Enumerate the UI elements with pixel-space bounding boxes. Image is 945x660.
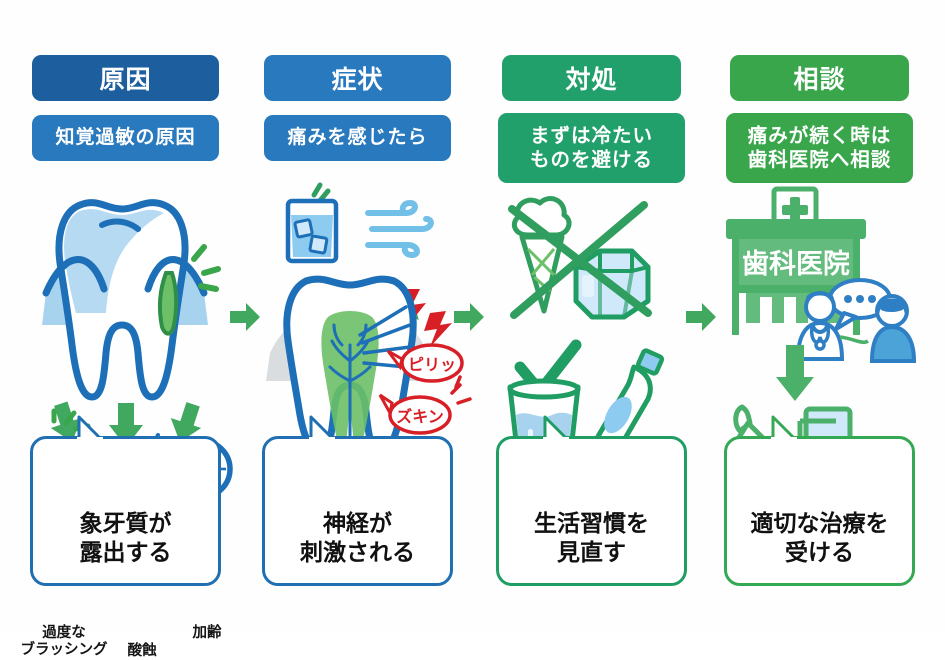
callout-tail: [75, 417, 105, 441]
column-subtitle-symptom: 痛みを感じたら: [264, 115, 451, 161]
column-title-consult: 相談: [730, 55, 909, 101]
caption-excessive-brushing: 過度な ブラッシング: [16, 625, 112, 659]
column-title-care: 対処: [502, 55, 681, 101]
column-title-cause: 原因: [32, 55, 219, 101]
column-cause: 原因 知覚過敏の原因: [18, 0, 233, 634]
infographic-board: 原因 知覚過敏の原因: [0, 0, 945, 634]
column-care: 対処 まずは冷たい ものを避ける: [484, 0, 699, 634]
cold-wind-icon: [368, 203, 431, 255]
callout-symptom-text: 神経が 刺激される: [300, 511, 415, 566]
callout-consult: 適切な治療を 受ける: [724, 436, 915, 586]
callout-cause-text: 象牙質が 露出する: [80, 511, 172, 566]
caption-acid-erosion: 酸蝕: [110, 643, 174, 660]
column-subtitle-cause: 知覚過敏の原因: [32, 115, 219, 161]
patient-icon: [872, 296, 914, 361]
column-consult: 相談 痛みが続く時は 歯科医院へ相談 歯科医院: [712, 0, 927, 634]
clinic-sign-text: 歯科医院: [742, 249, 850, 280]
callout-tail: [769, 417, 799, 441]
column-subtitle-consult: 痛みが続く時は 歯科医院へ相談: [726, 113, 913, 183]
column-subtitle-care: まずは冷たい ものを避ける: [498, 113, 685, 183]
callout-care: 生活習慣を 見直す: [496, 436, 687, 586]
iced-drink-icon: [288, 185, 336, 261]
callout-cause: 象牙質が 露出する: [30, 436, 221, 586]
callout-symptom: 神経が 刺激される: [262, 436, 453, 586]
callout-tail: [541, 417, 571, 441]
callout-tail: [307, 417, 337, 441]
svg-text:ズキン: ズキン: [396, 407, 444, 426]
callout-consult-text: 適切な治療を 受ける: [751, 511, 889, 566]
column-symptom: 症状 痛みを感じたら: [250, 0, 465, 634]
column-title-symptom: 症状: [264, 55, 451, 101]
arrow-symptom-to-care: [452, 300, 486, 334]
callout-care-text: 生活習慣を 見直す: [534, 511, 649, 566]
svg-text:ピリッ: ピリッ: [408, 355, 456, 374]
